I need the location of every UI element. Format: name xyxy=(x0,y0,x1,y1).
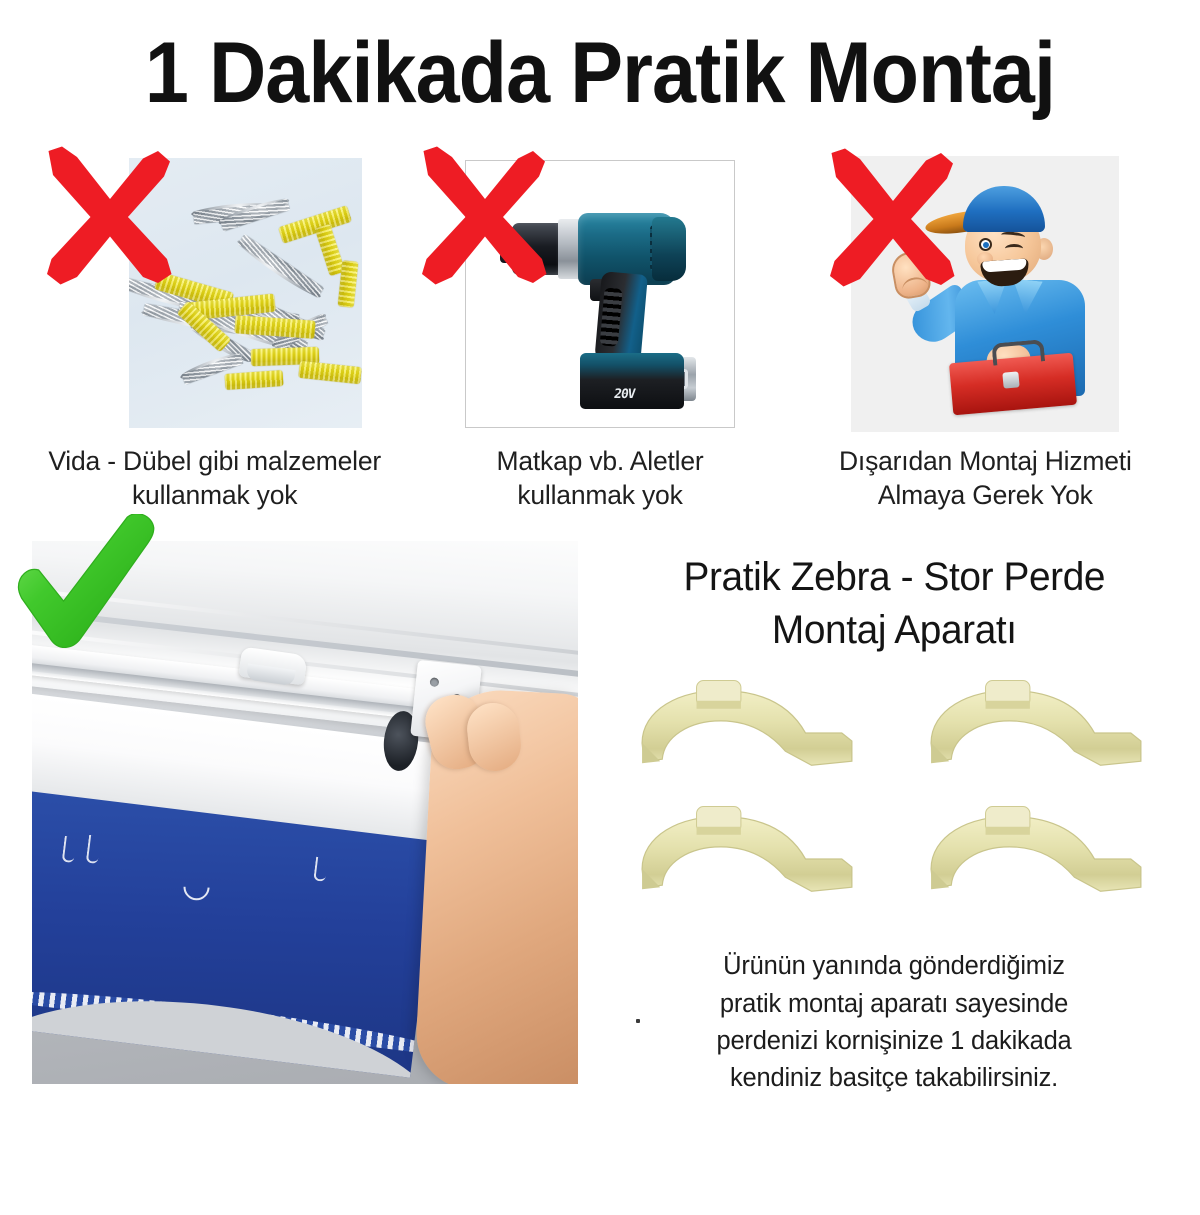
installation-photo-column xyxy=(0,541,592,1097)
product-description: Ürünün yanında gönderdiğimiz pratik mont… xyxy=(716,948,1071,1097)
product-info-column: Pratik Zebra - Stor Perde Montaj Aparatı xyxy=(592,541,1200,1097)
bottom-section: Pratik Zebra - Stor Perde Montaj Aparatı xyxy=(0,541,1200,1097)
screws-and-dowels-photo xyxy=(129,158,362,428)
mounting-clip xyxy=(634,680,866,792)
no-item-card-screws: Vida - Dübel gibi malzemeler kullanmak y… xyxy=(22,138,407,513)
no-item-card-drill: 20V Matkap vb. Aletler kullanmak yok xyxy=(407,138,792,513)
blind-installation-photo xyxy=(32,541,578,1084)
handyman-thumb-wrap xyxy=(793,138,1178,434)
stray-dot-artifact xyxy=(636,1019,640,1023)
section-title: Pratik Zebra - Stor Perde Montaj Aparatı xyxy=(683,551,1105,657)
mounting-clip xyxy=(923,806,1155,918)
mounting-clips-grid xyxy=(614,680,1174,918)
page-title: 1 Dakikada Pratik Montaj xyxy=(48,0,1152,116)
no-items-row: Vida - Dübel gibi malzemeler kullanmak y… xyxy=(0,138,1200,513)
caption-screws: Vida - Dübel gibi malzemeler kullanmak y… xyxy=(48,444,381,513)
no-item-card-handyman: Dışarıdan Montaj Hizmeti Almaya Gerek Yo… xyxy=(793,138,1178,513)
caption-drill: Matkap vb. Aletler kullanmak yok xyxy=(496,444,703,513)
mounting-clip xyxy=(923,680,1155,792)
handyman-cartoon xyxy=(851,156,1119,432)
caption-handyman: Dışarıdan Montaj Hizmeti Almaya Gerek Yo… xyxy=(839,444,1132,513)
screws-thumb-wrap xyxy=(22,138,407,434)
cordless-drill-photo: 20V xyxy=(465,160,735,428)
drill-thumb-wrap: 20V xyxy=(407,138,792,434)
mounting-clip xyxy=(634,806,866,918)
battery-voltage-label: 20V xyxy=(613,387,636,402)
